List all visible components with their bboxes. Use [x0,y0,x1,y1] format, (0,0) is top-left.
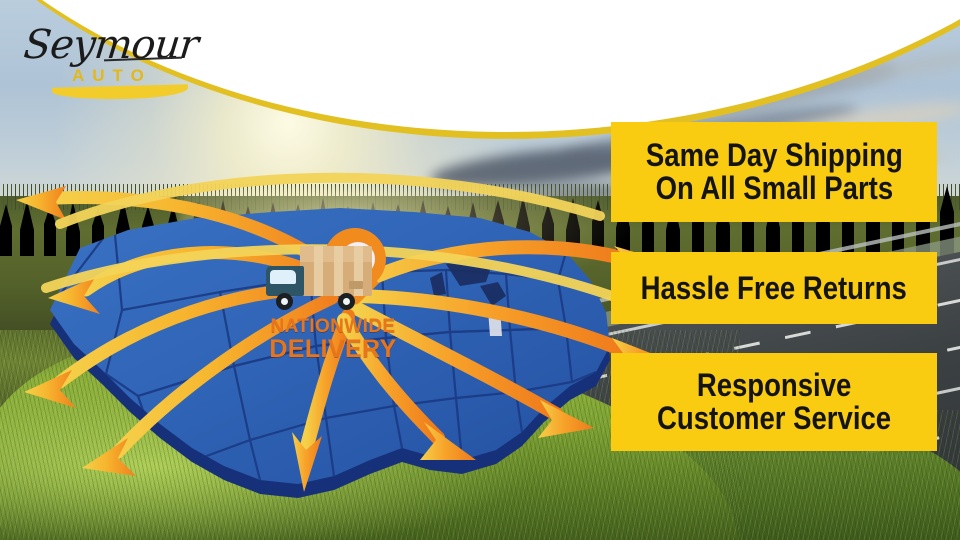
delivery-truck-icon [266,242,378,308]
callout-responsive-customer-service[interactable]: Responsive Customer Service [611,353,937,451]
callout-same-day-shipping[interactable]: Same Day Shipping On All Small Parts [611,122,937,222]
badge-line-1: NATIONWIDE [262,316,404,337]
truck-window-icon [270,270,296,284]
nationwide-delivery-badge: NATIONWIDE DELIVERY [262,228,412,368]
cargo-box-icon [300,246,372,296]
truck-wheel-icon [338,293,355,310]
callout-hassle-free-returns[interactable]: Hassle Free Returns [611,252,937,324]
callout-3-line-2: Customer Service [657,402,891,435]
badge-line-2: DELIVERY [262,336,404,363]
brand-subtitle: AUTO [72,66,152,86]
callout-2-line-1: Hassle Free Returns [641,272,907,305]
callout-1-line-1: Same Day Shipping [646,139,903,172]
brand-logo[interactable]: Seymour AUTO [18,14,208,98]
callout-1-line-2: On All Small Parts [646,172,903,205]
arrowhead-west [16,186,136,476]
truck-cab-icon [266,266,304,296]
callout-3-line-1: Responsive [657,369,891,402]
promo-banner: Seymour AUTO [0,0,960,540]
truck-wheel-icon [276,293,293,310]
